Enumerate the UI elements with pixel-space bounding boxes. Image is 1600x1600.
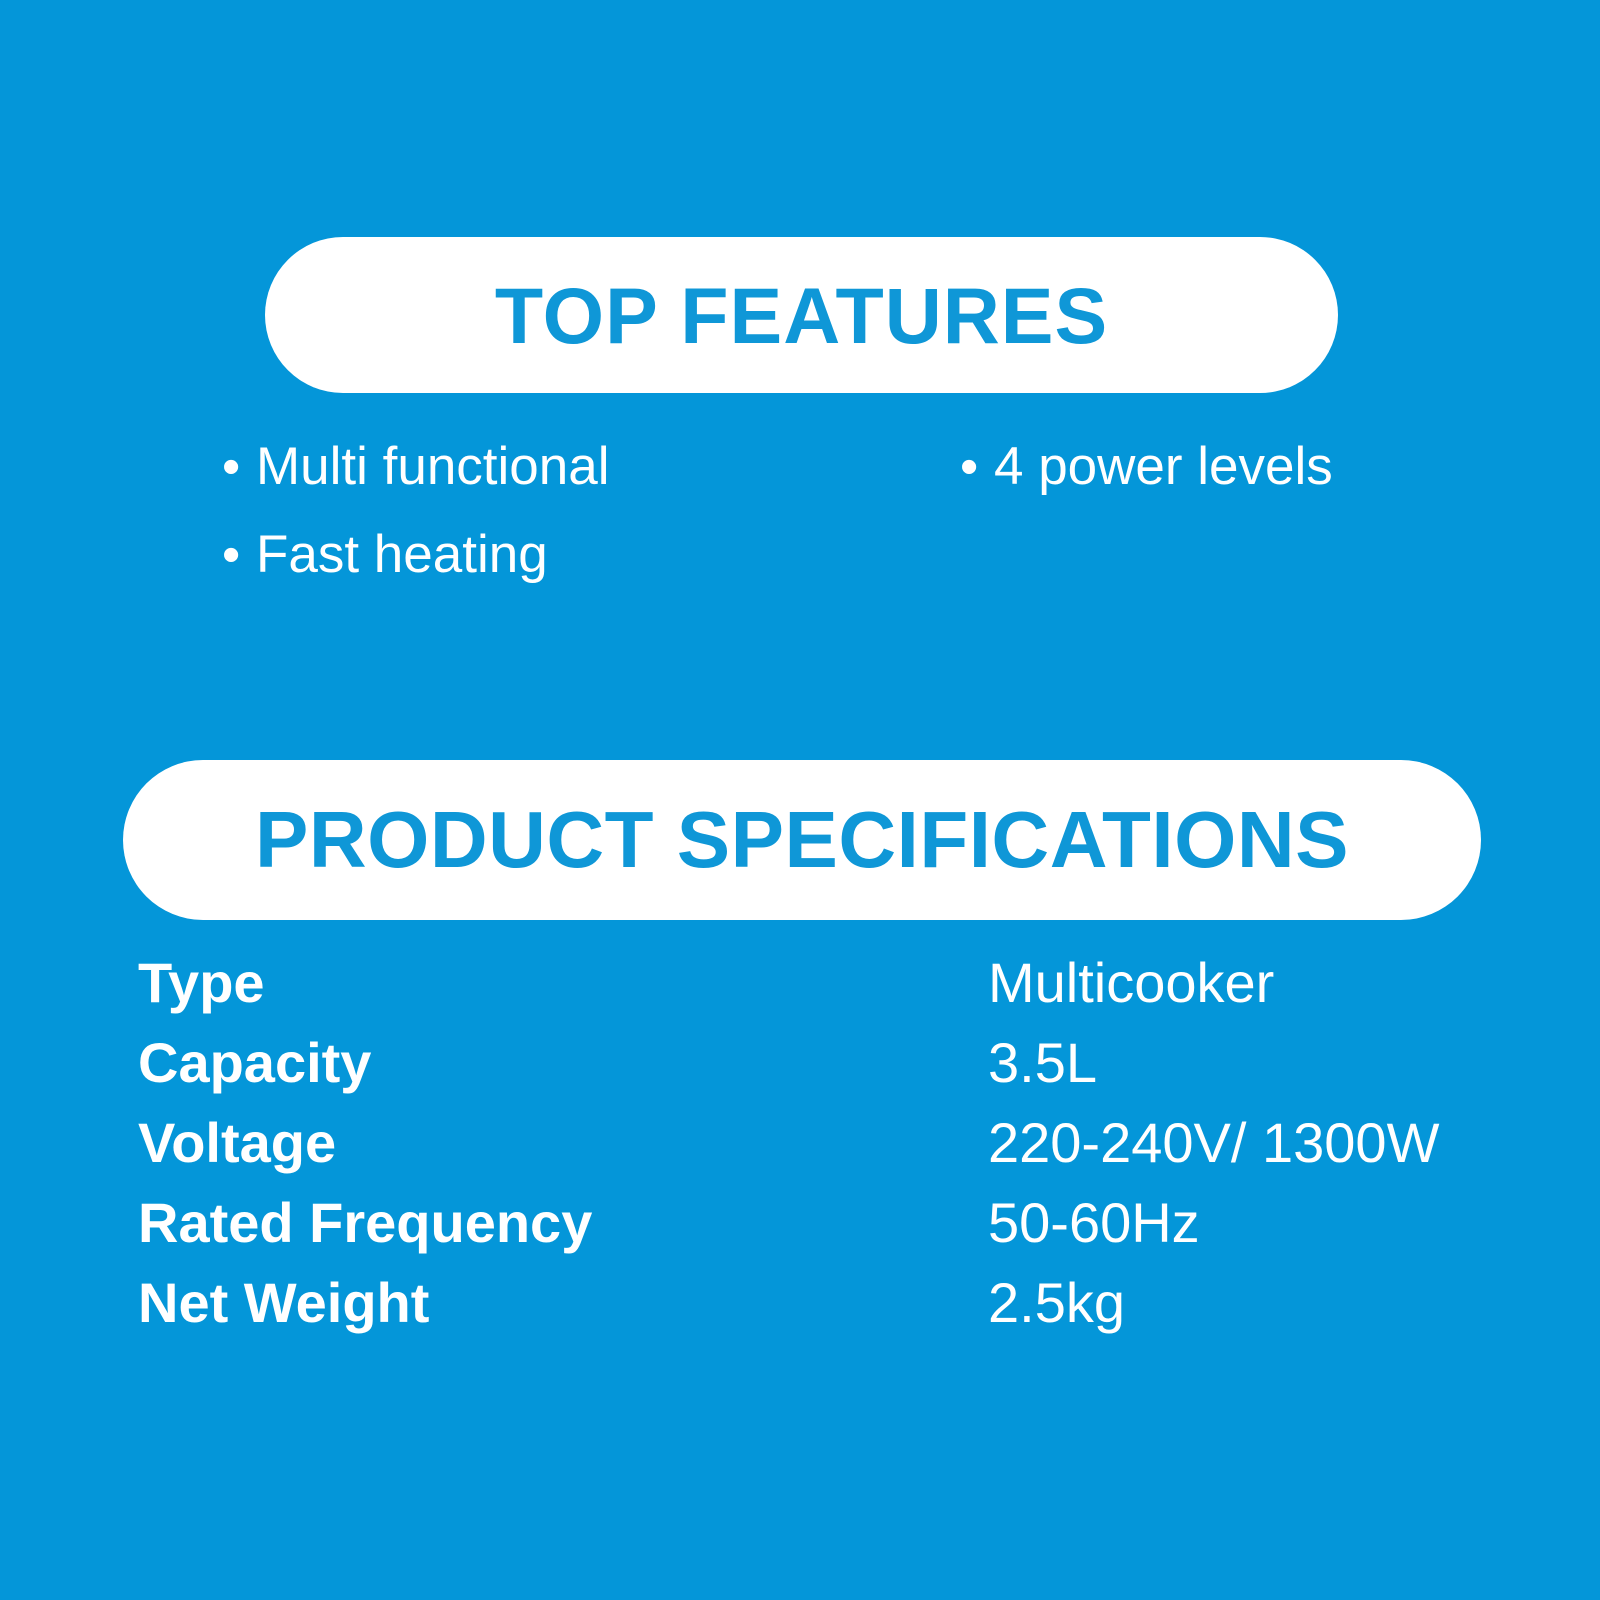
spec-label: Capacity [138,1035,988,1091]
table-row: Rated Frequency 50-60Hz [138,1195,1538,1275]
product-specifications-table: Type Multicooker Capacity 3.5L Voltage 2… [138,955,1538,1355]
bullet-icon: • [222,441,256,493]
table-row: Net Weight 2.5kg [138,1275,1538,1355]
list-item: • Fast heating [222,528,610,616]
bullet-icon: • [960,441,994,493]
table-row: Capacity 3.5L [138,1035,1538,1115]
table-row: Type Multicooker [138,955,1538,1035]
spec-label: Voltage [138,1115,988,1171]
top-features-list: • Multi functional • Fast heating • 4 po… [0,440,1600,640]
top-features-heading-label: TOP FEATURES [495,276,1108,355]
top-features-column-left: • Multi functional • Fast heating [222,440,610,616]
list-item: • Multi functional [222,440,610,528]
spec-label: Net Weight [138,1275,988,1331]
top-features-column-right: • 4 power levels [960,440,1333,528]
bullet-icon: • [222,529,256,581]
feature-label: Multi functional [256,440,610,493]
table-row: Voltage 220-240V/ 1300W [138,1115,1538,1195]
feature-label: Fast heating [256,528,548,581]
spec-value: 2.5kg [988,1275,1125,1331]
feature-label: 4 power levels [994,440,1333,493]
top-features-heading-pill: TOP FEATURES [265,237,1338,393]
product-info-panel: TOP FEATURES • Multi functional • Fast h… [0,0,1600,1600]
spec-value: Multicooker [988,955,1274,1011]
spec-label: Rated Frequency [138,1195,988,1251]
list-item: • 4 power levels [960,440,1333,528]
spec-label: Type [138,955,988,1011]
product-specifications-heading-label: PRODUCT SPECIFICATIONS [255,800,1349,880]
spec-value: 50-60Hz [988,1195,1200,1251]
product-specifications-heading-pill: PRODUCT SPECIFICATIONS [123,760,1481,920]
spec-value: 3.5L [988,1035,1097,1091]
spec-value: 220-240V/ 1300W [988,1115,1439,1171]
